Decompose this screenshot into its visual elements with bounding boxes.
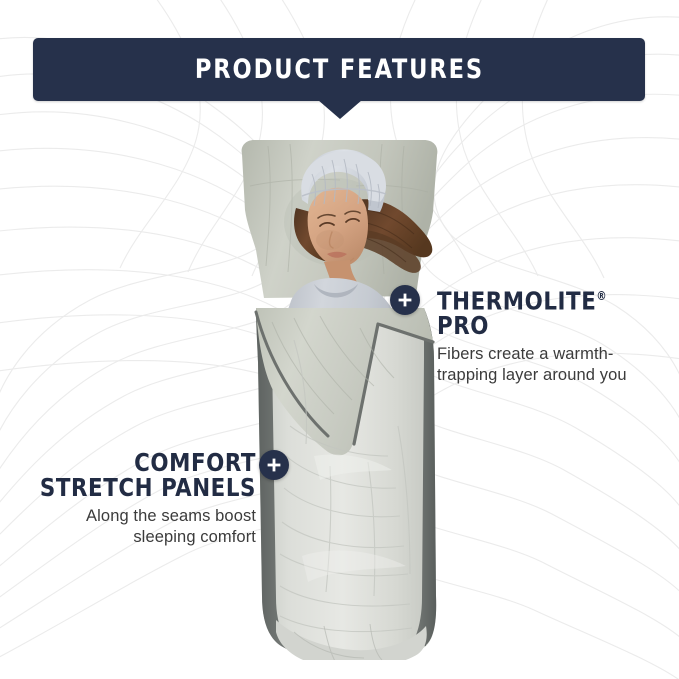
callout-body-comfort-stretch-panels: Along the seams boost sleeping comfort bbox=[20, 506, 256, 548]
callout-title-comfort-stretch-panels: COMFORTSTRETCH PANELS bbox=[32, 450, 256, 500]
callout-thermolite-pro: THERMOLITE®PRO Fibers create a warmth-tr… bbox=[437, 284, 647, 386]
product-photo bbox=[228, 126, 452, 660]
page-title: PRODUCT FEATURES bbox=[194, 54, 483, 85]
registered-trademark-icon: ® bbox=[596, 289, 606, 303]
callout-title-line-2: PRO bbox=[437, 311, 489, 340]
plus-icon bbox=[266, 457, 282, 473]
banner-pointer-triangle-icon bbox=[318, 100, 362, 119]
header-banner: PRODUCT FEATURES bbox=[33, 38, 645, 101]
callout-title-line-2: STRETCH PANELS bbox=[40, 473, 256, 502]
callout-body-thermolite-pro: Fibers create a warmth-trapping layer ar… bbox=[437, 344, 647, 386]
plus-icon bbox=[397, 292, 413, 308]
callout-comfort-stretch-panels: COMFORTSTRETCH PANELS Along the seams bo… bbox=[20, 450, 256, 548]
product-features-infographic: PRODUCT FEATURES THERMOLITE®PRO Fibers c… bbox=[0, 0, 679, 679]
callout-badge-thermolite-pro[interactable] bbox=[390, 285, 420, 315]
callout-badge-comfort-stretch-panels[interactable] bbox=[259, 450, 289, 480]
callout-title-thermolite-pro: THERMOLITE®PRO bbox=[437, 284, 637, 338]
